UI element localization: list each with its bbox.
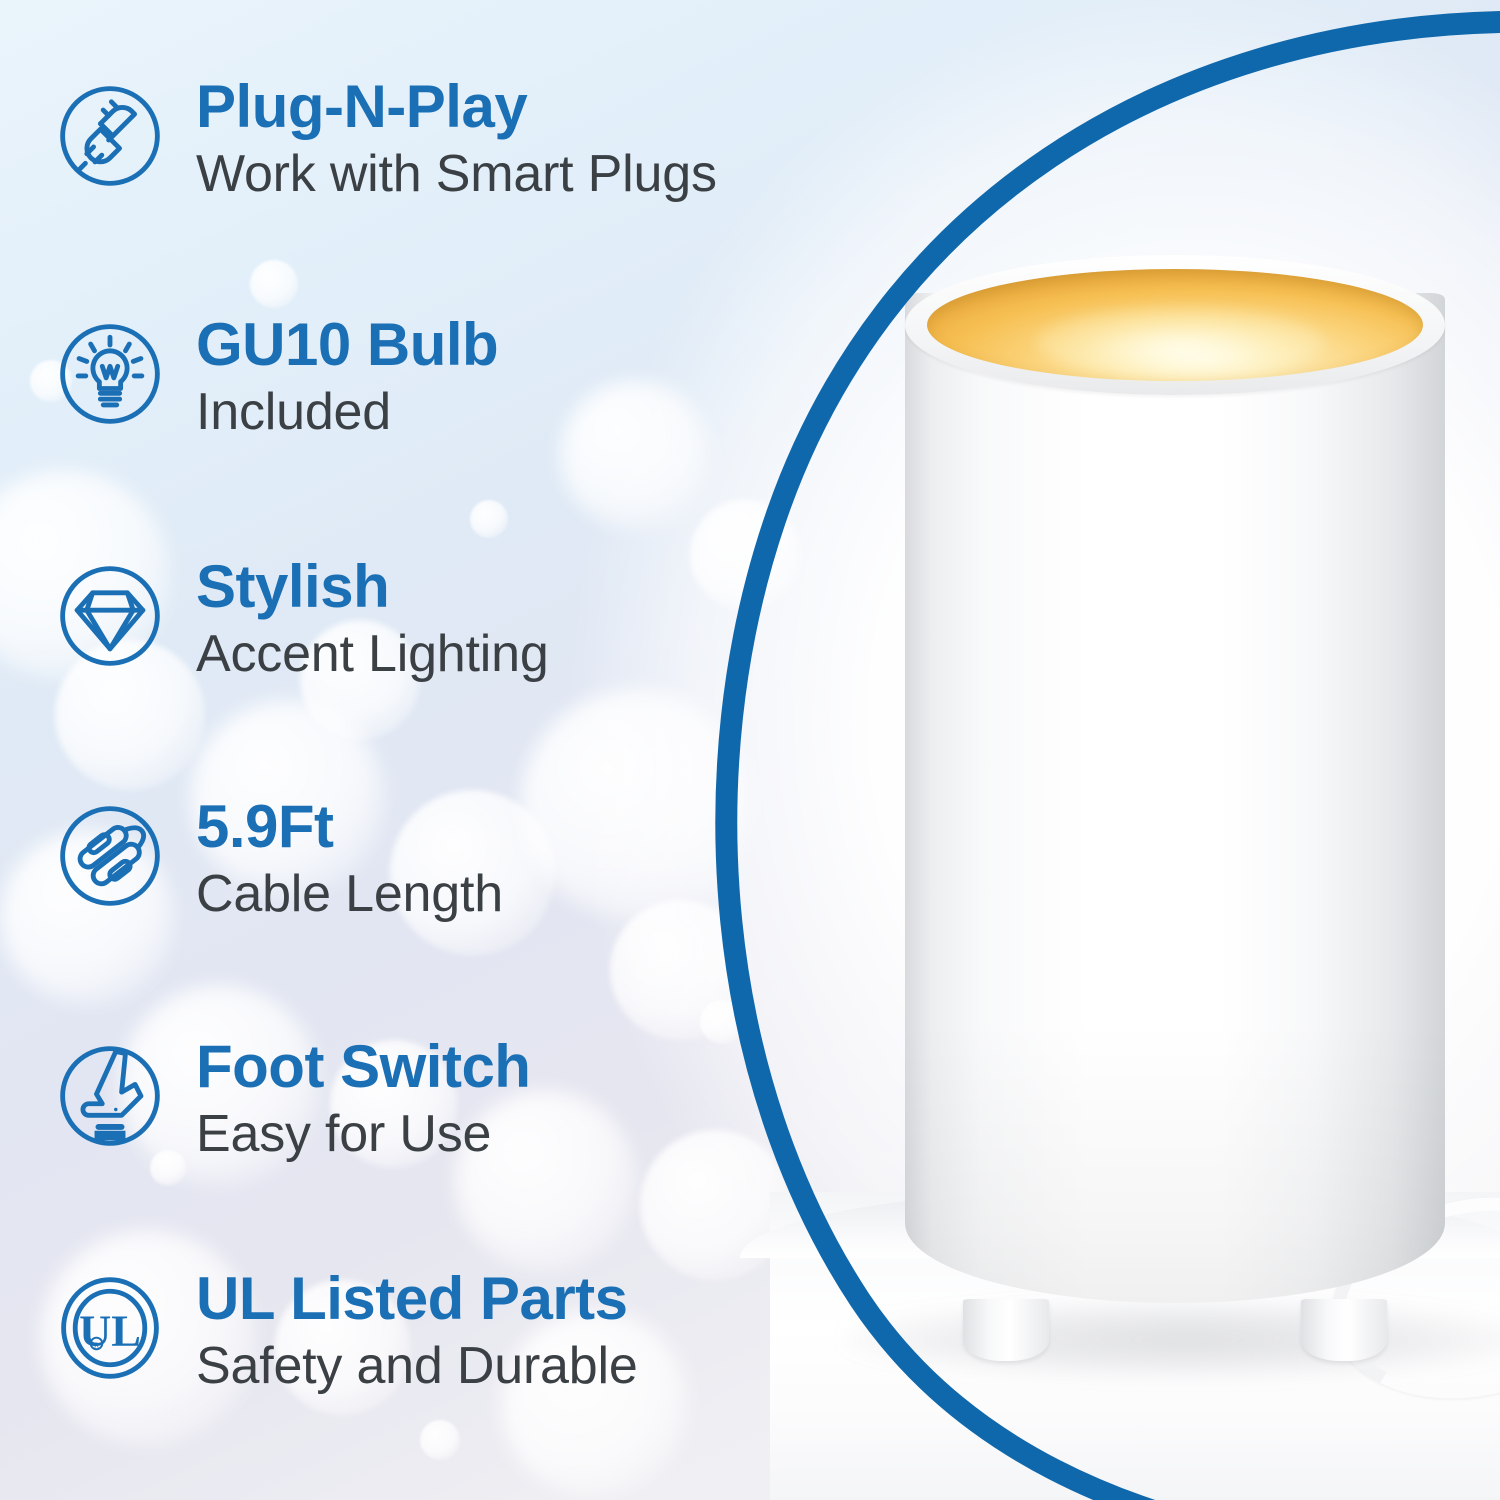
feature-item-plug-n-play: Plug-N-Play Work with Smart Plugs [52, 72, 717, 203]
feature-item-gu10-bulb: GU10 Bulb Included [52, 310, 498, 441]
feature-title: Foot Switch [196, 1036, 530, 1097]
product-feature-infographic: Plug-N-Play Work with Smart Plugs [0, 0, 1500, 1500]
feature-item-stylish: Stylish Accent Lighting [52, 552, 549, 683]
diamond-icon [52, 558, 168, 674]
feature-subtitle: Work with Smart Plugs [196, 145, 717, 203]
feature-item-ul-listed: UL R UL Listed Parts Safety and Durable [52, 1264, 638, 1395]
feature-text-cable-length: 5.9Ft Cable Length [196, 792, 503, 923]
feature-title: GU10 Bulb [196, 314, 498, 375]
light-bulb-icon [52, 316, 168, 432]
feature-subtitle: Cable Length [196, 865, 503, 923]
feature-subtitle: Safety and Durable [196, 1337, 638, 1395]
ul-listed-icon: UL R [52, 1270, 168, 1386]
feature-title: Plug-N-Play [196, 76, 717, 137]
svg-text:UL: UL [79, 1305, 141, 1355]
feature-subtitle: Included [196, 383, 498, 441]
feature-text-ul-listed: UL Listed Parts Safety and Durable [196, 1264, 638, 1395]
feature-subtitle: Accent Lighting [196, 625, 549, 683]
feature-text-gu10-bulb: GU10 Bulb Included [196, 310, 498, 441]
coiled-cable-icon [52, 798, 168, 914]
feature-text-plug-n-play: Plug-N-Play Work with Smart Plugs [196, 72, 717, 203]
feature-list: Plug-N-Play Work with Smart Plugs [0, 0, 800, 1500]
feature-title: 5.9Ft [196, 796, 503, 857]
plug-connector-icon [52, 78, 168, 194]
feature-text-stylish: Stylish Accent Lighting [196, 552, 549, 683]
feature-item-cable-length: 5.9Ft Cable Length [52, 792, 503, 923]
foot-switch-icon [52, 1038, 168, 1154]
feature-text-foot-switch: Foot Switch Easy for Use [196, 1032, 530, 1163]
feature-subtitle: Easy for Use [196, 1105, 530, 1163]
feature-title: Stylish [196, 556, 549, 617]
svg-text:R: R [94, 1340, 100, 1349]
feature-item-foot-switch: Foot Switch Easy for Use [52, 1032, 530, 1163]
feature-title: UL Listed Parts [196, 1268, 638, 1329]
